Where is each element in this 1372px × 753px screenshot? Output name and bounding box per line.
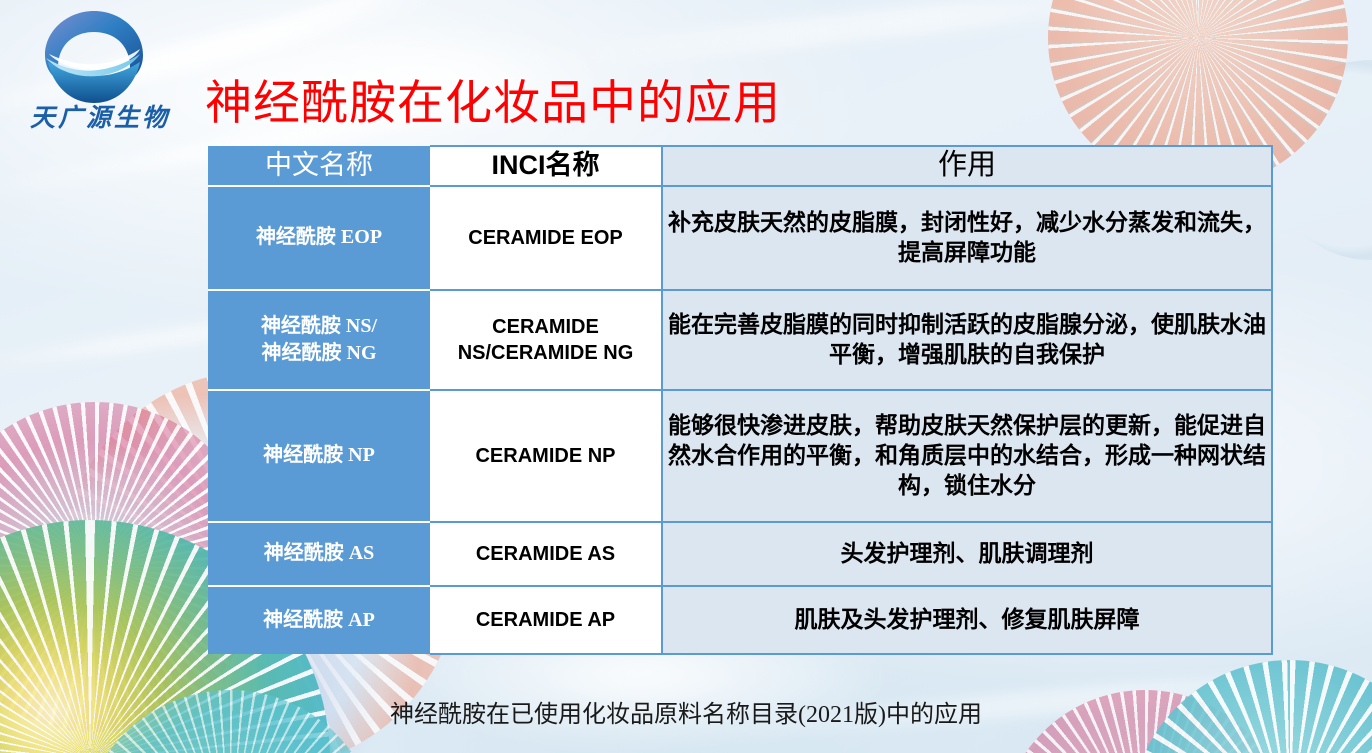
- cell-chinese-name: 神经酰胺 EOP: [208, 186, 430, 290]
- cell-effect: 能够很快渗进皮肤，帮助皮肤天然保护层的更新，能促进自然水合作用的平衡，和角质层中…: [662, 390, 1272, 522]
- cell-effect: 能在完善皮脂膜的同时抑制活跃的皮脂腺分泌，使肌肤水油平衡，增强肌肤的自我保护: [662, 290, 1272, 390]
- table-row: 神经酰胺 AS CERAMIDE AS 头发护理剂、肌肤调理剂: [208, 522, 1272, 586]
- ceramide-table: 中文名称 INCI名称 作用 神经酰胺 EOP CERAMIDE EOP 补充皮…: [208, 145, 1273, 655]
- table-row: 神经酰胺 EOP CERAMIDE EOP 补充皮肤天然的皮脂膜，封闭性好，减少…: [208, 186, 1272, 290]
- cell-inci-name: CERAMIDENS/CERAMIDE NG: [430, 290, 662, 390]
- cell-inci-name: CERAMIDE EOP: [430, 186, 662, 290]
- circular-wave-logo-icon: [36, 8, 152, 108]
- header-effect: 作用: [662, 146, 1272, 186]
- cell-chinese-name: 神经酰胺 NP: [208, 390, 430, 522]
- table-header-row: 中文名称 INCI名称 作用: [208, 146, 1272, 186]
- table-row: 神经酰胺 AP CERAMIDE AP 肌肤及头发护理剂、修复肌肤屏障: [208, 586, 1272, 654]
- cell-chinese-name: 神经酰胺 AS: [208, 522, 430, 586]
- page-title: 神经酰胺在化妆品中的应用: [205, 64, 781, 133]
- table-row: 神经酰胺 NP CERAMIDE NP 能够很快渗进皮肤，帮助皮肤天然保护层的更…: [208, 390, 1272, 522]
- logo-company-name: 天广源生物: [12, 98, 188, 134]
- slide-canvas: 天广源生物 神经酰胺在化妆品中的应用 中文名称 INCI名称 作用 神经酰胺 E…: [0, 0, 1372, 753]
- cell-inci-name: CERAMIDE AP: [430, 586, 662, 654]
- cell-effect: 头发护理剂、肌肤调理剂: [662, 522, 1272, 586]
- ceramide-table-wrapper: 中文名称 INCI名称 作用 神经酰胺 EOP CERAMIDE EOP 补充皮…: [208, 145, 1272, 655]
- table-row: 神经酰胺 NS/神经酰胺 NG CERAMIDENS/CERAMIDE NG 能…: [208, 290, 1272, 390]
- cell-effect: 补充皮肤天然的皮脂膜，封闭性好，减少水分蒸发和流失，提高屏障功能: [662, 186, 1272, 290]
- header-inci-name: INCI名称: [430, 146, 662, 186]
- table-caption: 神经酰胺在已使用化妆品原料名称目录(2021版)中的应用: [0, 694, 1372, 729]
- cell-effect: 肌肤及头发护理剂、修复肌肤屏障: [662, 586, 1272, 654]
- cell-chinese-name: 神经酰胺 AP: [208, 586, 430, 654]
- cell-inci-name: CERAMIDE NP: [430, 390, 662, 522]
- company-logo: 天广源生物: [12, 6, 188, 132]
- cell-chinese-name: 神经酰胺 NS/神经酰胺 NG: [208, 290, 430, 390]
- header-chinese-name: 中文名称: [208, 146, 430, 186]
- cell-inci-name: CERAMIDE AS: [430, 522, 662, 586]
